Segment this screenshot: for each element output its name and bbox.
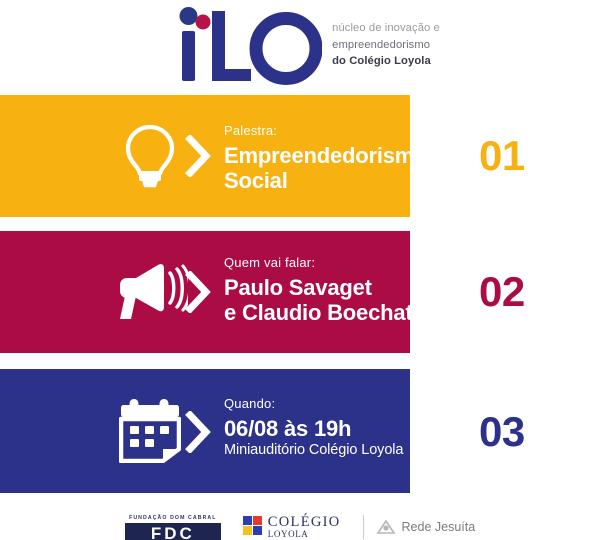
fdc-mark: FDC bbox=[125, 523, 221, 540]
footer-partner-logos: FUNDAÇÃO DOM CABRAL FDC COLÉGIO LOYOLA bbox=[0, 505, 600, 540]
band-number-03: 03 bbox=[479, 411, 525, 453]
header: núcleo de inovação e empreendedorismo do… bbox=[0, 0, 600, 92]
band-headline-line-1: Paulo Savaget bbox=[224, 275, 413, 301]
brand-logo: núcleo de inovação e empreendedorismo do… bbox=[176, 7, 440, 85]
band-eyebrow: Quem vai falar: bbox=[224, 255, 413, 271]
band-headline-line-1: Empreendedorismo bbox=[224, 143, 427, 169]
band-text-group: Quando: 06/08 às 19h Miniauditório Colég… bbox=[224, 396, 403, 460]
info-band-palestrantes: Quem vai falar: Paulo Savaget e Claudio … bbox=[0, 231, 600, 353]
info-band-quando: Quando: 06/08 às 19h Miniauditório Colég… bbox=[0, 369, 600, 493]
colegio-crest-icon bbox=[243, 516, 262, 535]
band-headline-line-2: e Claudio Boechat bbox=[224, 300, 413, 326]
rede-jesuita-crest-icon bbox=[376, 519, 396, 535]
calendar-icon bbox=[114, 393, 186, 467]
band-text-group: Quem vai falar: Paulo Savaget e Claudio … bbox=[224, 255, 413, 326]
ilo-logomark-icon bbox=[176, 7, 322, 85]
band-headline-line-2: Social bbox=[224, 168, 427, 194]
rede-jesuita-logo: Rede Jesuíta bbox=[363, 505, 476, 539]
tagline-line-2: empreendedorismo bbox=[332, 37, 440, 54]
colegio-wordmark-line-2: LOYOLA bbox=[268, 530, 341, 539]
colegio-loyola-logo: COLÉGIO LOYOLA bbox=[243, 505, 341, 540]
fdc-logo: FUNDAÇÃO DOM CABRAL FDC bbox=[125, 505, 221, 540]
fdc-wordmark-top: FUNDAÇÃO DOM CABRAL bbox=[125, 515, 221, 521]
band-eyebrow: Palestra: bbox=[224, 123, 427, 139]
band-subline: Miniauditório Colégio Loyola bbox=[224, 442, 403, 459]
tagline-line-3: do Colégio Loyola bbox=[332, 53, 440, 70]
band-headline-line-1: 06/08 às 19h bbox=[224, 416, 403, 442]
rede-jesuita-label: Rede Jesuíta bbox=[402, 520, 476, 534]
colegio-wordmark-line-1: COLÉGIO bbox=[268, 515, 341, 530]
poster-canvas: núcleo de inovação e empreendedorismo do… bbox=[0, 0, 600, 540]
lightbulb-icon bbox=[118, 119, 182, 193]
band-number-02: 02 bbox=[479, 271, 525, 313]
chevron-right-icon bbox=[178, 131, 218, 181]
band-number-01: 01 bbox=[479, 135, 525, 177]
band-text-group: Palestra: Empreendedorismo Social bbox=[224, 123, 427, 194]
chevron-right-icon bbox=[178, 407, 218, 457]
chevron-right-icon bbox=[178, 267, 218, 317]
tagline-line-1: núcleo de inovação e bbox=[332, 20, 440, 37]
band-eyebrow: Quando: bbox=[224, 396, 403, 412]
brand-tagline: núcleo de inovação e empreendedorismo do… bbox=[332, 20, 440, 72]
info-band-palestra: Palestra: Empreendedorismo Social 01 bbox=[0, 95, 600, 217]
